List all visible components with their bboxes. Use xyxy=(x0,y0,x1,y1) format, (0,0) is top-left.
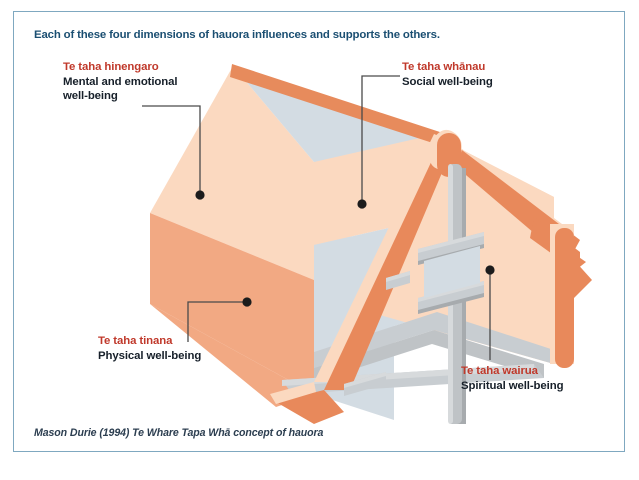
callout-whanau-english: Social well-being xyxy=(402,75,493,90)
leader-dot-tinana xyxy=(242,297,251,306)
leader-line-whanau xyxy=(362,76,400,204)
callout-tinana: Te taha tinana Physical well-being xyxy=(98,334,201,363)
callout-wairua-maori: Te taha wairua xyxy=(461,364,563,379)
callout-hinengaro: Te taha hinengaro Mental and emotional w… xyxy=(63,60,177,104)
leader-dot-whanau xyxy=(357,199,366,208)
callout-tinana-maori: Te taha tinana xyxy=(98,334,201,349)
leader-line-hinengaro xyxy=(142,106,200,195)
callout-whanau: Te taha whānau Social well-being xyxy=(402,60,493,89)
callout-hinengaro-maori: Te taha hinengaro xyxy=(63,60,177,75)
callout-whanau-maori: Te taha whānau xyxy=(402,60,493,75)
leader-dot-hinengaro xyxy=(195,190,204,199)
callout-tinana-english: Physical well-being xyxy=(98,349,201,364)
callout-hinengaro-english: Mental and emotional xyxy=(63,75,177,90)
figure-caption: Mason Durie (1994) Te Whare Tapa Whā con… xyxy=(34,427,323,439)
leader-dot-wairua xyxy=(485,265,494,274)
callout-wairua: Te taha wairua Spiritual well-being xyxy=(461,364,563,393)
figure-frame: Each of these four dimensions of hauora … xyxy=(13,11,625,452)
callout-hinengaro-english2: well-being xyxy=(63,89,177,104)
callout-wairua-english: Spiritual well-being xyxy=(461,379,563,394)
